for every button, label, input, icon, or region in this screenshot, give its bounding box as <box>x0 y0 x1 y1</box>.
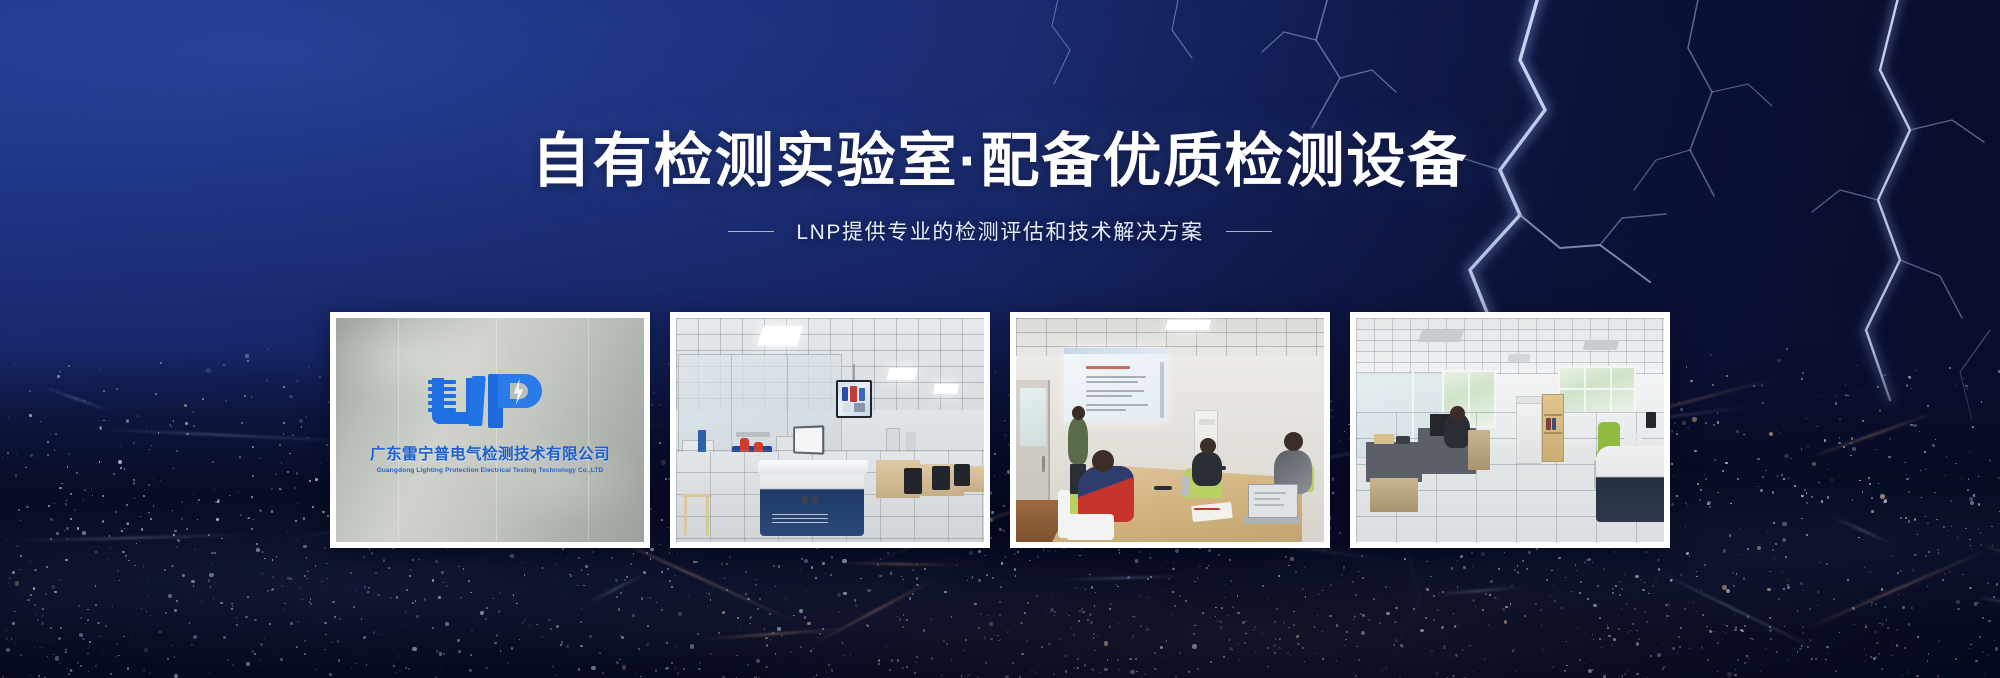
hero-banner: 自有检测实验室·配备优质检测设备 LNP提供专业的检测评估和技术解决方案 <box>0 0 2000 678</box>
rule-right-icon <box>1226 231 1272 232</box>
office-photo <box>1356 318 1664 542</box>
photo-gallery: 广东雷宁普电气检测技术有限公司 Guangdong Lighting Prote… <box>0 312 2000 548</box>
laboratory-photo <box>676 318 984 542</box>
reception-desk <box>1596 446 1664 522</box>
wall-monitor <box>836 380 872 418</box>
lnp-logo-icon <box>426 370 554 430</box>
gallery-card-meeting-room[interactable] <box>1010 312 1330 548</box>
page-title: 自有检测实验室·配备优质检测设备 <box>0 128 2000 194</box>
subtitle-row: LNP提供专业的检测评估和技术解决方案 <box>0 216 2000 246</box>
company-sign-photo: 广东雷宁普电气检测技术有限公司 Guangdong Lighting Prote… <box>336 318 644 542</box>
page-subtitle: LNP提供专业的检测评估和技术解决方案 <box>796 216 1203 246</box>
hero-copy: 自有检测实验室·配备优质检测设备 LNP提供专业的检测评估和技术解决方案 <box>0 128 2000 246</box>
gallery-card-office[interactable] <box>1350 312 1670 548</box>
company-name-en: Guangdong Lighting Protection Electrical… <box>336 467 644 474</box>
gallery-card-laboratory[interactable] <box>670 312 990 548</box>
lnp-signage: 广东雷宁普电气检测技术有限公司 Guangdong Lighting Prote… <box>336 370 644 474</box>
gallery-card-company-sign[interactable]: 广东雷宁普电气检测技术有限公司 Guangdong Lighting Prote… <box>330 312 650 548</box>
company-name-cn: 广东雷宁普电气检测技术有限公司 <box>336 442 644 464</box>
meeting-room-photo <box>1016 318 1324 542</box>
rule-left-icon <box>728 231 774 232</box>
